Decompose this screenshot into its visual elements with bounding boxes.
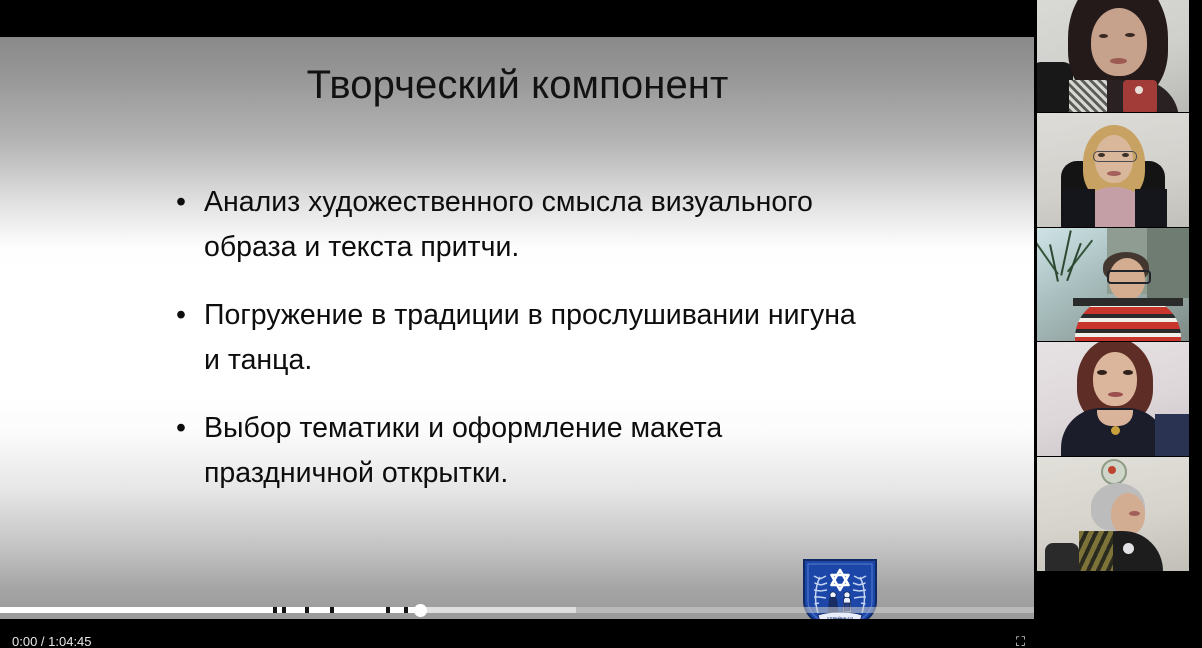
progress-bar-played (0, 607, 421, 613)
participant-tile-4[interactable] (1037, 342, 1189, 456)
bullet-marker-icon: • (176, 406, 186, 451)
chapter-marker[interactable] (404, 607, 408, 613)
time-display: 0:00 / 1:04:45 (12, 634, 92, 648)
bullet-marker-icon: • (176, 180, 186, 225)
participant-tile-3[interactable] (1037, 228, 1189, 341)
bullet-item-1: • Анализ художественного смысла визуальн… (168, 180, 868, 270)
fullscreen-icon[interactable]: ⛶ (1016, 634, 1025, 648)
chapter-marker[interactable] (273, 607, 277, 613)
chapter-marker[interactable] (330, 607, 334, 613)
player-time-row: 0:00 / 1:04:45 ⛶ (0, 634, 1035, 648)
participant-filmstrip[interactable]: КФ +53 ⌄ (1035, 0, 1202, 648)
slide-title: Творческий компонент (0, 61, 1035, 109)
bullet-text: Погружение в традиции в прослушивании ни… (204, 293, 868, 383)
progress-bar-buffered (421, 607, 576, 613)
chapter-marker[interactable] (305, 607, 309, 613)
participant-tile-1[interactable] (1037, 0, 1189, 112)
bullet-text: Выбор тематики и оформление макета празд… (204, 406, 868, 496)
presentation-slide: Творческий компонент • Анализ художестве… (0, 37, 1035, 619)
playhead-handle[interactable] (414, 604, 427, 617)
video-call-screen-share-view: Творческий компонент • Анализ художестве… (0, 0, 1202, 648)
slide-bullet-list: • Анализ художественного смысла визуальн… (168, 180, 868, 519)
progress-bar-track[interactable] (0, 607, 1035, 613)
bullet-item-3: • Выбор тематики и оформление макета пра… (168, 406, 868, 496)
bullet-marker-icon: • (176, 293, 186, 338)
bullet-item-2: • Погружение в традиции в прослушивании … (168, 293, 868, 383)
participant-tile-5[interactable] (1037, 457, 1189, 571)
chapter-marker[interactable] (386, 607, 390, 613)
participant-tile-2[interactable] (1037, 113, 1189, 227)
video-player-controls[interactable]: 0:00 / 1:04:45 ⛶ (0, 604, 1035, 648)
chapter-marker[interactable] (282, 607, 286, 613)
bullet-text: Анализ художественного смысла визуальног… (204, 180, 868, 270)
shared-screen-region[interactable]: Творческий компонент • Анализ художестве… (0, 0, 1035, 648)
